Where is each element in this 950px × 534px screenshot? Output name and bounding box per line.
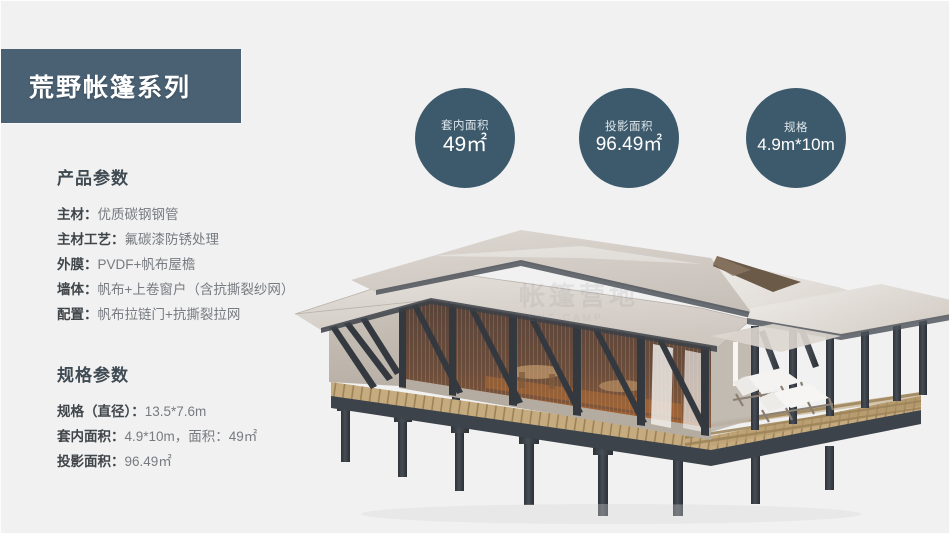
- product-section-heading: 产品参数: [57, 164, 294, 189]
- spec-section-heading: 规格参数: [57, 361, 257, 386]
- param-row: 外膜：PVDF+帆布屋檐: [57, 252, 294, 277]
- param-row: 规格（直径）：13.5*7.6m: [57, 399, 257, 424]
- param-value: 96.49㎡: [125, 454, 172, 469]
- param-key: 投影面积：: [57, 454, 125, 469]
- tent-3d-render: 帐篷营地 TENT CAMP: [281, 196, 950, 526]
- param-key: 主材工艺：: [57, 232, 125, 247]
- stat-value: 96.49㎡: [596, 135, 663, 154]
- param-key: 规格（直径）：: [57, 404, 145, 419]
- param-value: PVDF+帆布屋檐: [98, 257, 196, 272]
- param-row: 投影面积：96.49㎡: [57, 449, 257, 474]
- param-value: 帆布+上卷窗户（含抗撕裂纱网）: [98, 282, 295, 297]
- stat-value: 4.9m*10m: [757, 136, 834, 153]
- param-row: 主材工艺：氟碳漆防锈处理: [57, 227, 294, 252]
- param-key: 外膜：: [57, 257, 98, 272]
- param-key: 配置：: [57, 307, 98, 322]
- param-row: 墙体：帆布+上卷窗户（含抗撕裂纱网）: [57, 277, 294, 302]
- param-value: 帆布拉链门+抗撕裂拉网: [98, 307, 241, 322]
- param-row: 套内面积：4.9*10m，面积：49㎡: [57, 424, 257, 449]
- stat-value: 49㎡: [443, 134, 487, 155]
- param-key: 套内面积：: [57, 429, 125, 444]
- product-parameters-section: 产品参数 主材：优质碳钢钢管 主材工艺：氟碳漆防锈处理 外膜：PVDF+帆布屋檐…: [57, 164, 294, 327]
- param-key: 墙体：: [57, 282, 98, 297]
- page-title: 荒野帐篷系列: [29, 68, 191, 104]
- stat-label: 套内面积: [441, 121, 489, 133]
- param-value: 优质碳钢钢管: [98, 207, 179, 222]
- slide-root: 荒野帐篷系列 产品参数 主材：优质碳钢钢管 主材工艺：氟碳漆防锈处理 外膜：PV…: [0, 0, 950, 534]
- tent-illustration: [281, 196, 950, 526]
- title-banner: 荒野帐篷系列: [1, 49, 241, 123]
- param-row: 配置：帆布拉链门+抗撕裂拉网: [57, 302, 294, 327]
- stat-label: 规格: [784, 123, 808, 135]
- spec-parameters-section: 规格参数 规格（直径）：13.5*7.6m 套内面积：4.9*10m，面积：49…: [57, 361, 257, 474]
- stat-circle-projected-area: 投影面积 96.49㎡: [579, 88, 679, 188]
- stat-circle-interior-area: 套内面积 49㎡: [415, 88, 515, 188]
- param-value: 氟碳漆防锈处理: [125, 232, 220, 247]
- stat-label: 投影面积: [605, 122, 653, 134]
- param-value: 4.9*10m，面积：49㎡: [125, 429, 258, 444]
- param-key: 主材：: [57, 207, 98, 222]
- param-row: 主材：优质碳钢钢管: [57, 202, 294, 227]
- param-value: 13.5*7.6m: [145, 404, 207, 419]
- stat-circle-dimensions: 规格 4.9m*10m: [746, 88, 846, 188]
